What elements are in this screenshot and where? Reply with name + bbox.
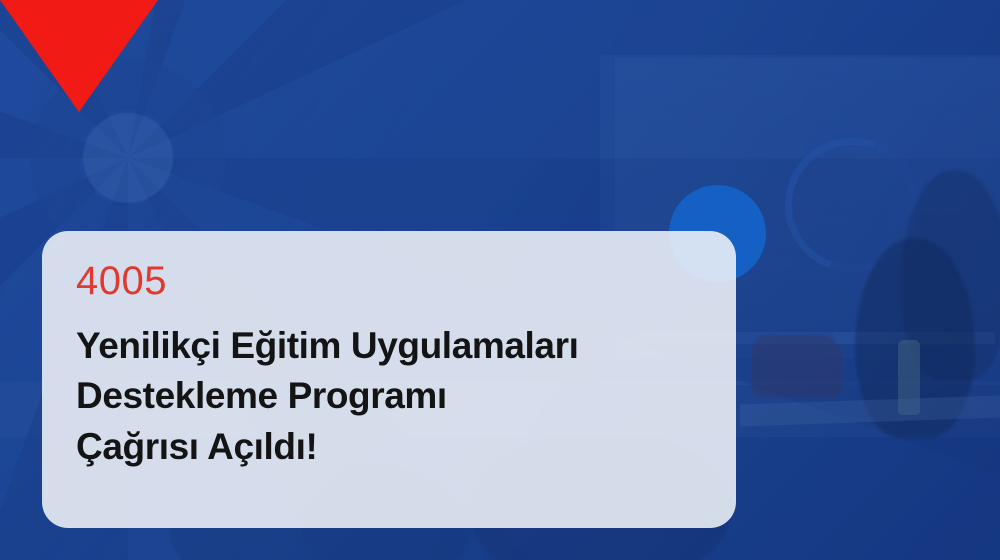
red-triangle-icon	[0, 0, 158, 112]
headline-line-2: Destekleme Programı	[76, 371, 712, 421]
headline-line-1: Yenilikçi Eğitim Uygulamaları	[76, 321, 712, 371]
page-title: Yenilikçi Eğitim Uygulamaları Destekleme…	[76, 321, 712, 472]
announcement-card: 4005 Yenilikçi Eğitim Uygulamaları Deste…	[42, 231, 736, 528]
program-code: 4005	[76, 261, 712, 301]
headline-line-3: Çağrısı Açıldı!	[76, 422, 712, 472]
announcement-banner: 4005 Yenilikçi Eğitim Uygulamaları Deste…	[0, 0, 1000, 560]
